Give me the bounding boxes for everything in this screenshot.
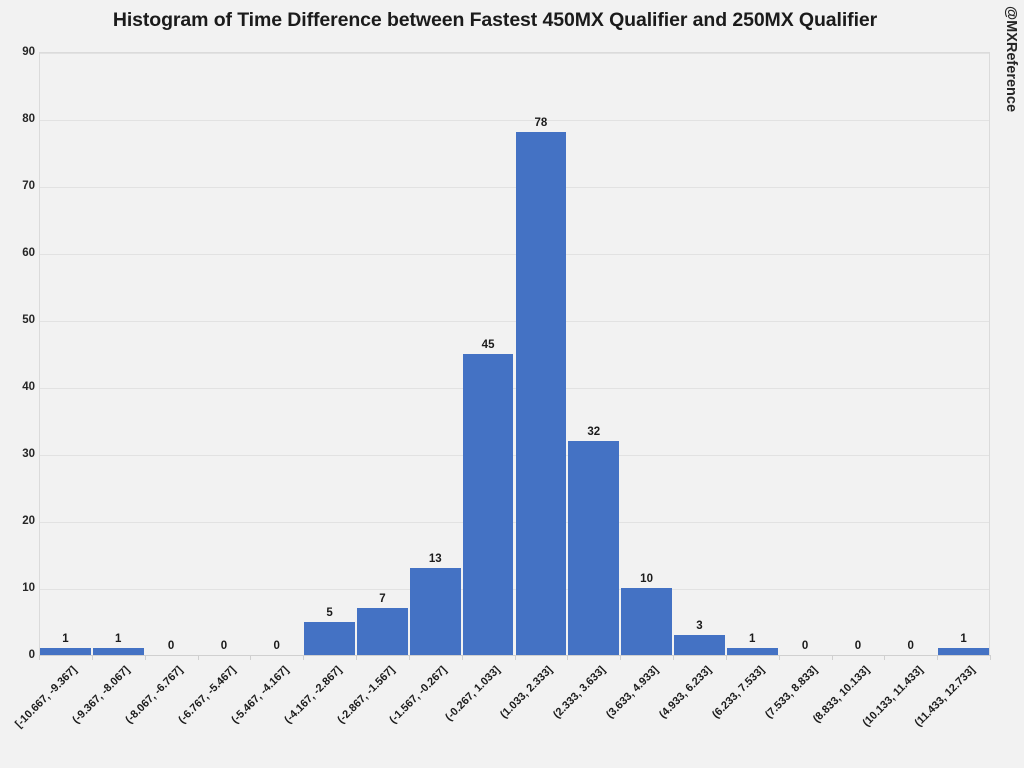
bar-slot: 13 <box>409 52 462 655</box>
x-axis-tick <box>250 655 251 660</box>
bars-layer: 11000571345783210310001 <box>39 52 990 655</box>
y-axis-tick-label: 60 <box>3 247 35 259</box>
bar-value-label: 1 <box>92 633 145 645</box>
chart-title: Histogram of Time Difference between Fas… <box>0 9 990 32</box>
bar-slot: 3 <box>673 52 726 655</box>
bar-slot: 7 <box>356 52 409 655</box>
y-axis-tick-label: 90 <box>3 46 35 58</box>
histogram-bar[interactable] <box>727 648 778 655</box>
histogram-bar[interactable] <box>568 441 619 655</box>
histogram-bar[interactable] <box>357 608 408 655</box>
x-axis-tick <box>409 655 410 660</box>
bar-value-label: 3 <box>673 620 726 632</box>
bar-value-label: 45 <box>462 339 515 351</box>
x-axis-labels: [-10.667, -9.367](-9.367, -8.067](-8.067… <box>39 662 990 768</box>
bar-value-label: 1 <box>726 633 779 645</box>
y-axis-tick-label: 30 <box>3 448 35 460</box>
bar-slot: 1 <box>39 52 92 655</box>
histogram-bar[interactable] <box>93 648 144 655</box>
bar-slot: 0 <box>198 52 251 655</box>
histogram-bar[interactable] <box>463 354 514 656</box>
x-axis-tick-label: (7.533, 8.833] <box>763 664 820 721</box>
bar-slot: 0 <box>884 52 937 655</box>
bar-slot: 0 <box>832 52 885 655</box>
bar-value-label: 5 <box>303 607 356 619</box>
bar-slot: 1 <box>726 52 779 655</box>
bar-value-label: 78 <box>515 117 568 129</box>
x-axis-tick-label: (6.233, 7.533] <box>710 664 767 721</box>
histogram-bar[interactable] <box>304 622 355 656</box>
bar-slot: 78 <box>515 52 568 655</box>
bar-value-label: 0 <box>198 640 251 652</box>
x-axis-tick <box>92 655 93 660</box>
x-axis-tick <box>673 655 674 660</box>
x-axis-tick <box>303 655 304 660</box>
x-axis-tick <box>726 655 727 660</box>
bar-slot: 10 <box>620 52 673 655</box>
bar-slot: 1 <box>92 52 145 655</box>
bar-value-label: 10 <box>620 573 673 585</box>
y-axis: 0102030405060708090 <box>0 0 35 768</box>
x-axis-tick-label: (1.033, 2.333] <box>498 664 555 721</box>
bar-value-label: 0 <box>832 640 885 652</box>
bar-value-label: 32 <box>567 426 620 438</box>
y-axis-tick-label: 70 <box>3 180 35 192</box>
x-axis-tick <box>567 655 568 660</box>
bar-value-label: 0 <box>145 640 198 652</box>
x-axis-tick-label: (-0.267, 1.033] <box>443 664 503 724</box>
x-axis-tick <box>937 655 938 660</box>
bar-value-label: 0 <box>250 640 303 652</box>
bar-slot: 0 <box>145 52 198 655</box>
x-axis-tick-label: (2.333, 3.633] <box>551 664 608 721</box>
bar-slot: 0 <box>250 52 303 655</box>
histogram-bar[interactable] <box>621 588 672 655</box>
x-axis-tick <box>779 655 780 660</box>
y-axis-tick-label: 80 <box>3 113 35 125</box>
histogram-bar[interactable] <box>516 132 567 655</box>
x-axis-tick <box>462 655 463 660</box>
x-axis-tick <box>884 655 885 660</box>
x-axis-tick <box>145 655 146 660</box>
x-axis-tick-label: (3.633, 4.933] <box>604 664 661 721</box>
bar-value-label: 0 <box>884 640 937 652</box>
bar-slot: 45 <box>462 52 515 655</box>
y-axis-tick-label: 40 <box>3 381 35 393</box>
histogram-bar[interactable] <box>410 568 461 655</box>
bar-slot: 5 <box>303 52 356 655</box>
bar-slot: 32 <box>567 52 620 655</box>
y-axis-tick-label: 10 <box>3 582 35 594</box>
histogram-chart: Histogram of Time Difference between Fas… <box>0 0 1024 768</box>
bar-slot: 0 <box>779 52 832 655</box>
y-axis-tick-label: 0 <box>3 649 35 661</box>
bar-value-label: 13 <box>409 553 462 565</box>
x-axis-tick <box>198 655 199 660</box>
histogram-bar[interactable] <box>40 648 91 655</box>
histogram-bar[interactable] <box>674 635 725 655</box>
bar-value-label: 7 <box>356 593 409 605</box>
x-axis-tick-label: (-1.567, -0.267] <box>388 664 450 726</box>
bar-value-label: 0 <box>779 640 832 652</box>
x-axis-ticks <box>39 655 990 661</box>
watermark-label: @MXReference <box>1000 6 1022 146</box>
histogram-bar[interactable] <box>938 648 989 655</box>
bar-value-label: 1 <box>39 633 92 645</box>
bar-slot: 1 <box>937 52 990 655</box>
x-axis-tick <box>515 655 516 660</box>
x-axis-tick-label: (4.933, 6.233] <box>657 664 714 721</box>
bar-value-label: 1 <box>937 633 990 645</box>
x-axis-tick <box>990 655 991 660</box>
x-axis-tick <box>39 655 40 660</box>
x-axis-tick <box>356 655 357 660</box>
x-axis-tick <box>620 655 621 660</box>
y-axis-tick-label: 20 <box>3 515 35 527</box>
x-axis-tick <box>832 655 833 660</box>
y-axis-tick-label: 50 <box>3 314 35 326</box>
